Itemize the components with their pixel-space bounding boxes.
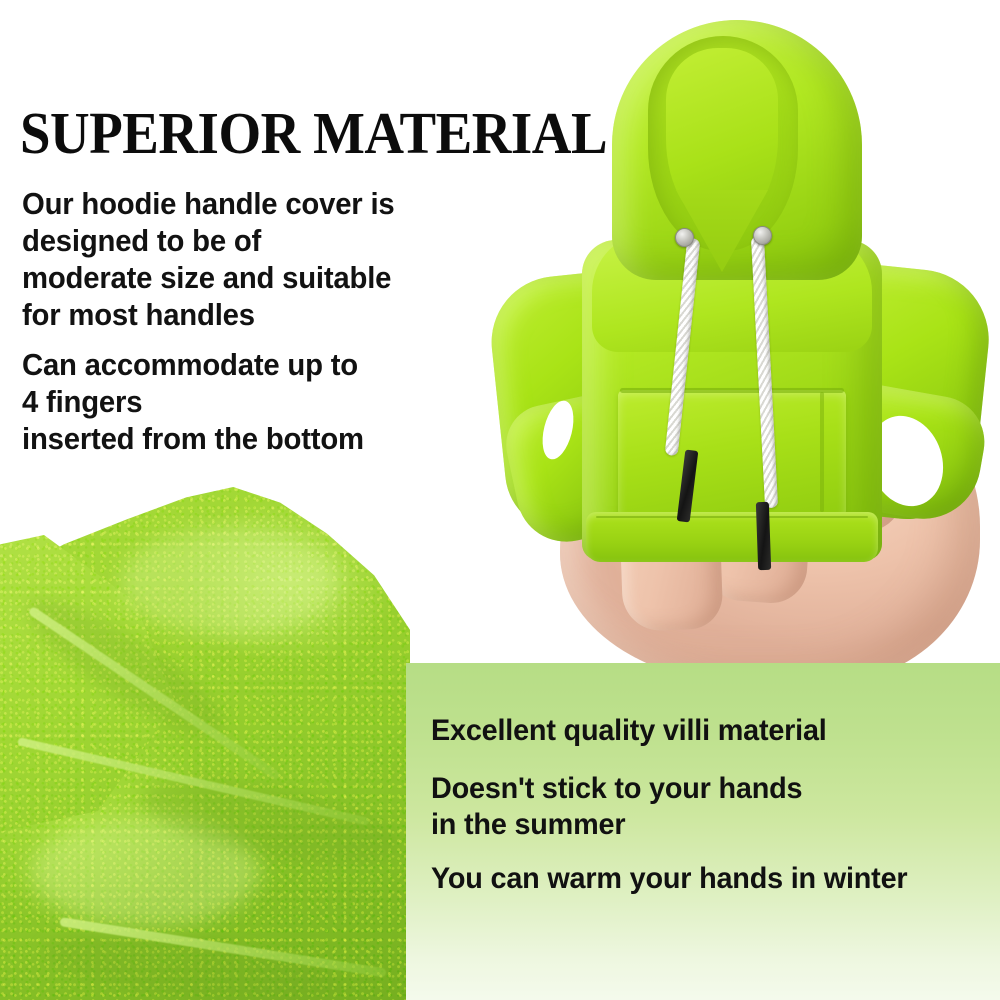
drawstring-aglet-right <box>756 502 771 570</box>
feature-description-block: Our hoodie handle cover is designed to b… <box>22 186 492 458</box>
hoodie-kangaroo-pocket <box>618 390 846 518</box>
feature-paragraph-fingers: Can accommodate up to 4 fingers inserted… <box>22 347 473 458</box>
benefit-line-quality: Excellent quality villi material <box>431 713 827 749</box>
product-photo-hoodie-on-hand <box>470 0 1000 690</box>
benefit-line-winter: You can warm your hands in winter <box>431 861 907 897</box>
promo-image-canvas: SUPERIOR MATERIAL Our hoodie handle cove… <box>0 0 1000 1000</box>
drawstring-eyelet-right <box>753 226 772 245</box>
drawstring-eyelet-left <box>675 228 694 247</box>
hem-stitch-line <box>596 516 868 518</box>
fabric-highlight <box>120 527 340 637</box>
feature-paragraph-size: Our hoodie handle cover is designed to b… <box>22 186 473 334</box>
hoodie-handle-cover <box>470 0 1000 690</box>
pocket-top-seam <box>620 388 844 393</box>
benefits-panel: Excellent quality villi material Doesn't… <box>406 663 1000 1000</box>
hoodie-bottom-hem <box>586 512 878 562</box>
fabric-texture-photo <box>0 487 410 1000</box>
pocket-side-seam <box>820 392 824 512</box>
benefit-line-summer: Doesn't stick to your hands in the summe… <box>431 771 802 843</box>
